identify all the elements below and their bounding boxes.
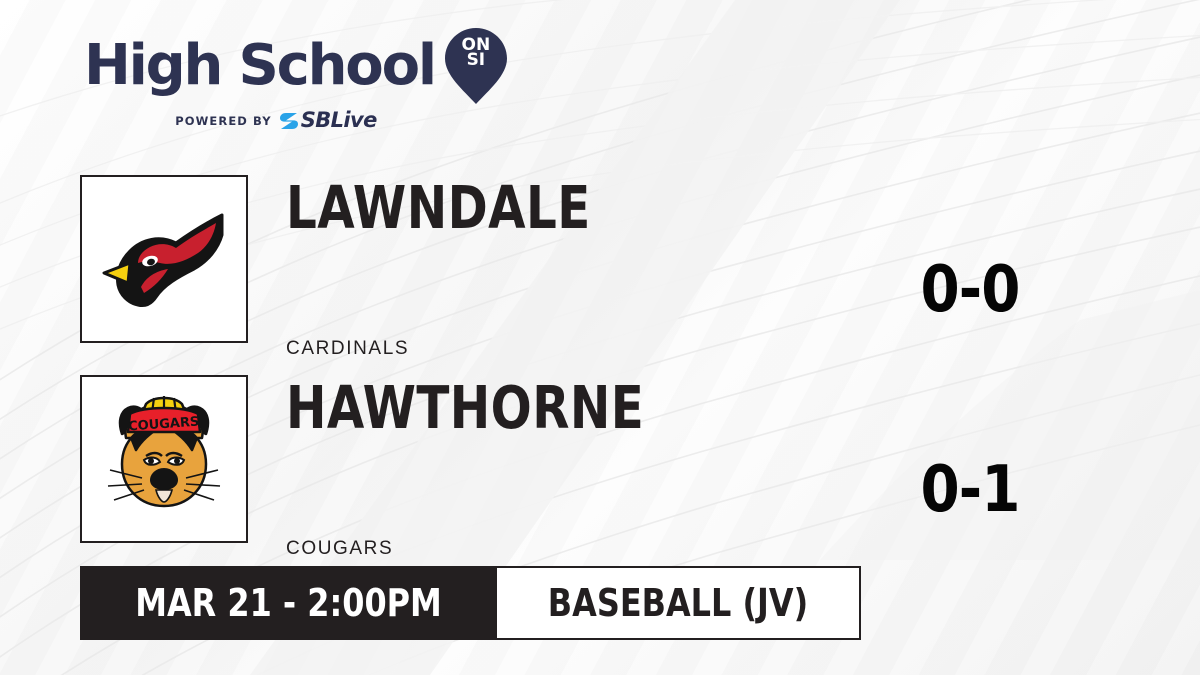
pin-line-si: SI	[445, 53, 507, 68]
powered-by-label: POWERED BY	[175, 114, 271, 128]
team-name-lawndale: LAWNDALE	[286, 178, 591, 237]
brand-header: High School ON SI POWERED BY SBLive	[84, 28, 514, 131]
team-logo-box-hawthorne: COUGARS	[80, 375, 248, 543]
cougar-head-logo: COUGARS	[94, 394, 234, 524]
team-name-hawthorne: HAWTHORNE	[286, 378, 644, 437]
team-record-hawthorne: 0-1	[882, 458, 1058, 522]
powered-by-row: POWERED BY SBLive	[84, 110, 514, 131]
sblive-logo: SBLive	[279, 110, 377, 131]
team-mascot-cardinals: CARDINALS	[286, 338, 409, 360]
team-record-lawndale: 0-0	[882, 258, 1058, 322]
event-sport-block: BASEBALL (JV)	[497, 566, 861, 640]
brand-row: High School ON SI	[84, 28, 514, 104]
matchup-graphic: High School ON SI POWERED BY SBLive	[0, 0, 1200, 675]
event-sport-text: BASEBALL (JV)	[548, 581, 808, 625]
sblive-s-icon	[279, 111, 299, 131]
event-banner: MAR 21 - 2:00PM BASEBALL (JV)	[80, 566, 861, 640]
cardinal-head-logo	[94, 199, 234, 319]
sblive-wordmark: SBLive	[301, 110, 377, 131]
on-si-pin-icon: ON SI	[445, 28, 507, 104]
team-logo-box-lawndale	[80, 175, 248, 343]
on-si-pin-text: ON SI	[445, 38, 507, 68]
event-datetime-text: MAR 21 - 2:00PM	[135, 581, 442, 625]
event-datetime-block: MAR 21 - 2:00PM	[80, 566, 497, 640]
brand-wordmark: High School	[84, 38, 435, 94]
team-mascot-cougars: COUGARS	[286, 538, 393, 560]
